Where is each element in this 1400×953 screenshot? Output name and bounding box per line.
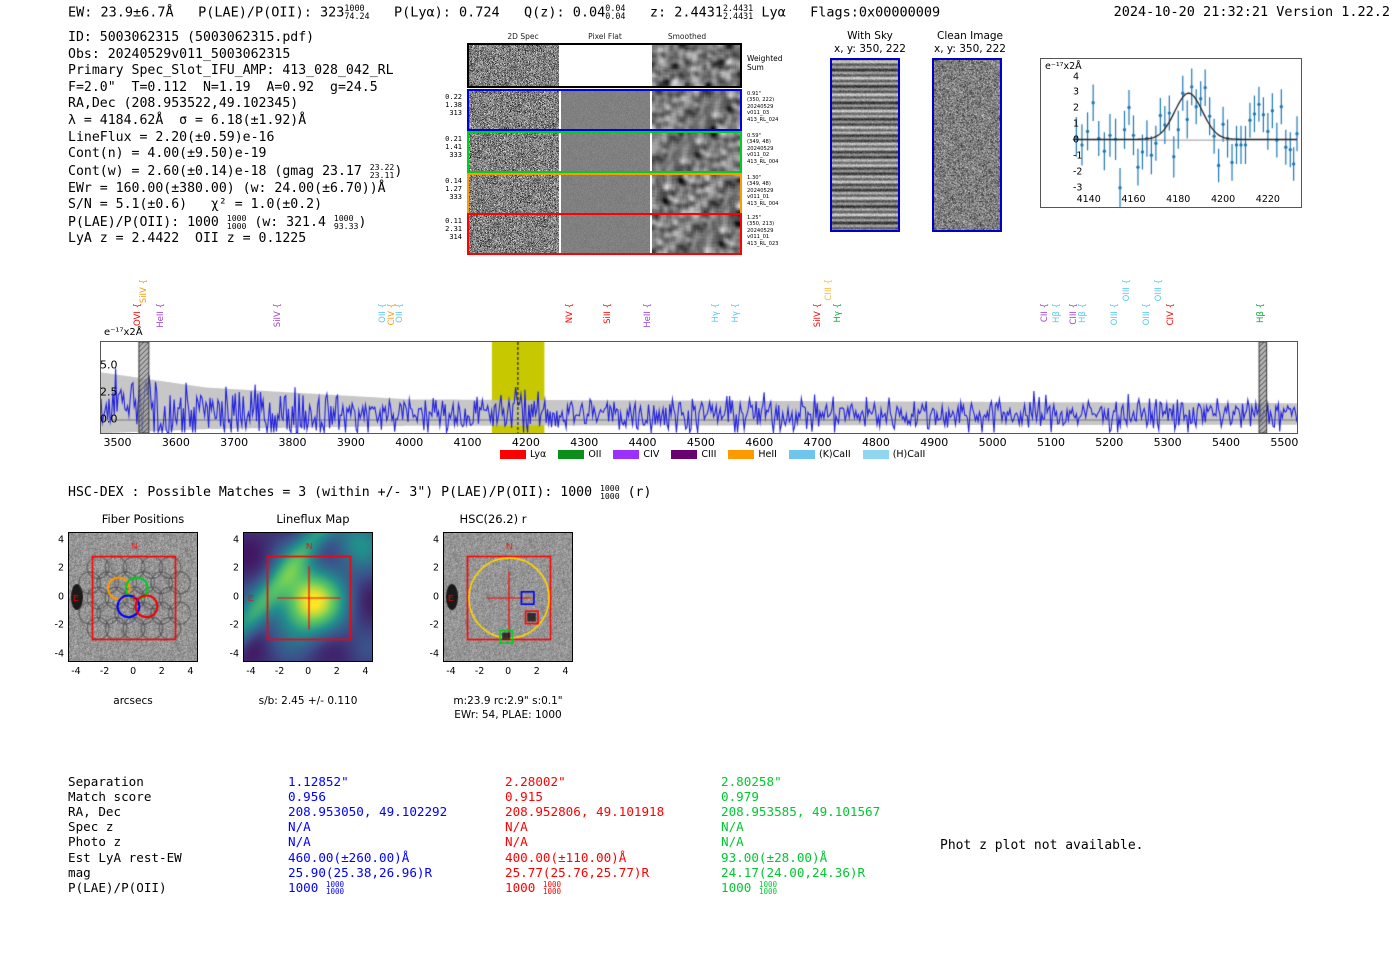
spectrum-x-tick: 3900 xyxy=(337,436,365,449)
fiber-pixel-flat xyxy=(561,215,650,253)
spectrum-x-tick: 3800 xyxy=(279,436,307,449)
legend-label: OII xyxy=(588,449,601,460)
info-radec: RA,Dec (208.953522,49.102345) xyxy=(68,96,402,113)
fiber-stats: 0.112.31314 xyxy=(418,217,462,242)
emission-line-label: Hγ { xyxy=(833,303,843,323)
emission-line-label: CII { xyxy=(1040,303,1050,322)
hsc-r-caption-2: EWr: 54, PLAE: 1000 xyxy=(413,709,603,721)
fiber-stats: 0.141.27333 xyxy=(418,177,462,202)
line-profile-x-tick: 4160 xyxy=(1121,194,1145,205)
spectrum-x-tick: 5300 xyxy=(1154,436,1182,449)
with-sky-title: With Sky x, y: 350, 222 xyxy=(820,30,920,55)
fiber-positions-image[interactable] xyxy=(68,532,198,662)
line-profile-x-tick: 4140 xyxy=(1077,194,1101,205)
legend-entry: OII xyxy=(558,449,601,460)
info-ewr: EWr = 160.00(±380.00) (w: 24.00(±6.70))Å xyxy=(68,181,402,198)
spectrum-x-tick: 5100 xyxy=(1037,436,1065,449)
emission-line-label: OIII { xyxy=(1142,303,1152,325)
fiber-2d-spec xyxy=(469,133,559,171)
spectrum-x-tick: 4000 xyxy=(395,436,423,449)
hsc-r-title: HSC(26.2) r xyxy=(408,512,578,526)
emission-line-label: Hγ { xyxy=(731,303,741,323)
info-primary-spec: Primary Spec_Slot_IFU_AMP: 413_028_042_R… xyxy=(68,63,402,80)
hsc-y-tick: -4 xyxy=(423,649,439,660)
header-z-type: Lyα xyxy=(761,4,785,20)
match-row-label: mag xyxy=(68,865,91,880)
emission-line-label: HeII { xyxy=(643,303,653,328)
fiber-pixel-flat xyxy=(561,133,650,171)
hsc-y-tick: -2 xyxy=(48,620,64,631)
match-cell: 208.953585, 49.101567 xyxy=(721,804,880,819)
emission-line-label: NV { xyxy=(565,303,575,323)
emission-line-label: SiIV { xyxy=(813,303,823,327)
hsc-x-tick: 0 xyxy=(505,666,511,677)
info-seeing: F=2.0" T=0.112 N=1.19 A=0.92 g=24.5 xyxy=(68,80,402,97)
match-cell: 1.12852" xyxy=(288,774,349,789)
legend-label: Lyα xyxy=(530,449,546,460)
lineflux-map-title: Lineflux Map xyxy=(228,512,398,526)
spectrum-x-tick: 4500 xyxy=(687,436,715,449)
col-header-smoothed: Smoothed xyxy=(647,32,727,41)
fiber-meta: 1.30" (349, 48) 20240529 v011_01 413_RL_… xyxy=(747,175,779,207)
emission-line-label: Hβ { xyxy=(1078,303,1088,323)
info-cont-w: Cont(w) = 2.60(±0.14)e-18 (gmag 23.17 23… xyxy=(68,163,402,181)
fiber-meta: 0.59" (349, 48) 20240529 v011_02 413_RL_… xyxy=(747,133,779,165)
legend-entry: CIII xyxy=(671,449,716,460)
match-row-label: Separation xyxy=(68,774,144,789)
clean-image xyxy=(932,58,1002,232)
fiber-smoothed xyxy=(652,133,740,171)
hsc-y-tick: 4 xyxy=(423,534,439,545)
emission-line-label: Hγ { xyxy=(711,303,721,323)
spectrum-axes xyxy=(100,341,1298,434)
legend-swatch xyxy=(558,450,584,459)
weighted-sum-row xyxy=(467,43,742,88)
legend-label: HeII xyxy=(758,449,777,460)
match-cell: 208.953050, 49.102292 xyxy=(288,804,447,819)
fiber-row[interactable] xyxy=(467,131,742,173)
hsc-x-tick: 2 xyxy=(534,666,540,677)
hsc-x-tick: 2 xyxy=(334,666,340,677)
legend-entry: HeII xyxy=(728,449,777,460)
match-cell: 1000 10001000 xyxy=(505,880,561,896)
lineflux-map-caption: s/b: 2.45 +/- 0.110 xyxy=(213,695,403,707)
line-profile-x-tick: 4200 xyxy=(1211,194,1235,205)
legend-label: CIV xyxy=(643,449,659,460)
spectrum-x-tick: 5400 xyxy=(1212,436,1240,449)
info-lambda-sigma: λ = 4184.62Å σ = 6.18(±1.92)Å xyxy=(68,113,402,130)
header-qz: Q(z): 0.04 xyxy=(524,4,605,20)
fiber-2d-spec xyxy=(469,91,559,129)
hsc-y-tick: -2 xyxy=(223,620,239,631)
spectrum-x-tick: 4400 xyxy=(629,436,657,449)
fiber-positions-title: Fiber Positions xyxy=(58,512,228,526)
match-cell: 0.956 xyxy=(288,789,326,804)
fiber-row[interactable] xyxy=(467,213,742,255)
match-cell: 25.77(25.76,25.77)R xyxy=(505,865,649,880)
hsc-x-tick: 0 xyxy=(305,666,311,677)
match-cell: N/A xyxy=(288,819,311,834)
match-cell: 2.80258" xyxy=(721,774,782,789)
spectrum-x-tick: 4900 xyxy=(920,436,948,449)
legend-label: CIII xyxy=(701,449,716,460)
emission-line-label: OIII { xyxy=(1110,303,1120,325)
match-row-label: Est LyA rest-EW xyxy=(68,850,182,865)
emission-line-label: OII { xyxy=(395,303,405,323)
legend-swatch xyxy=(863,450,889,459)
fiber-pixel-flat xyxy=(561,91,650,129)
clean-image-title: Clean Image x, y: 350, 222 xyxy=(915,30,1025,55)
spectrum-x-tick: 3700 xyxy=(220,436,248,449)
hsc-y-tick: -2 xyxy=(423,620,439,631)
hsc-y-tick: 2 xyxy=(423,563,439,574)
match-cell: 0.979 xyxy=(721,789,759,804)
match-cell: N/A xyxy=(505,834,528,849)
emission-line-label: CIII { xyxy=(824,279,834,301)
legend-entry: (H)CaII xyxy=(863,449,926,460)
hsc-y-tick: 0 xyxy=(48,591,64,602)
legend-swatch xyxy=(789,450,815,459)
col-header-2d-spec: 2D Spec xyxy=(483,32,563,41)
emission-line-label: Hβ { xyxy=(1256,303,1266,323)
match-cell: 24.17(24.00,24.36)R xyxy=(721,865,865,880)
hsc-y-tick: 0 xyxy=(423,591,439,602)
header-ew: EW: 23.9±6.7Å xyxy=(68,4,174,20)
match-cell: 25.90(25.38,26.96)R xyxy=(288,865,432,880)
spectrum-x-tick: 4300 xyxy=(570,436,598,449)
match-cell: 208.952806, 49.101918 xyxy=(505,804,664,819)
spectrum-canvas xyxy=(101,342,1297,433)
emission-line-label: SiIV { xyxy=(139,279,149,303)
hsc-x-tick: -4 xyxy=(446,666,455,677)
info-sn-chi2: S/N = 5.1(±0.6) χ² = 1.0(±0.2) xyxy=(68,197,402,214)
fiber-2d-spec xyxy=(469,175,559,213)
fiber-pixel-flat xyxy=(561,175,650,213)
header-plya: P(Lyα): 0.724 xyxy=(394,4,500,20)
legend-label: (H)CaII xyxy=(893,449,926,460)
emission-line-label: SiII { xyxy=(603,303,613,324)
match-cell: 93.00(±28.00)Å xyxy=(721,850,827,865)
fiber-row[interactable] xyxy=(467,89,742,131)
match-row-label: Match score xyxy=(68,789,151,804)
hsc-y-tick: 4 xyxy=(48,534,64,545)
match-row-label: Spec z xyxy=(68,819,114,834)
hsc-y-tick: 2 xyxy=(48,563,64,574)
source-info-block: ID: 5003062315 (5003062315.pdf) Obs: 202… xyxy=(68,30,402,248)
legend-swatch xyxy=(500,450,526,459)
spectrum-x-tick: 5200 xyxy=(1095,436,1123,449)
legend-label: (K)CaII xyxy=(819,449,851,460)
match-cell: N/A xyxy=(721,819,744,834)
fiber-stats: 0.211.41333 xyxy=(418,135,462,160)
header-plae-label: P(LAE)/P(OII): xyxy=(198,4,312,20)
emission-line-label: OIII { xyxy=(1122,279,1132,301)
hsc-y-tick: 2 xyxy=(223,563,239,574)
header-flags: Flags:0x00000009 xyxy=(810,4,940,20)
hsc-r-caption-1: m:23.9 rc:2.9" s:0.1" xyxy=(413,695,603,707)
with-sky-image xyxy=(830,58,900,232)
emission-line-label: SiIV { xyxy=(273,303,283,327)
legend-entry: (K)CaII xyxy=(789,449,851,460)
legend-swatch xyxy=(728,450,754,459)
fiber-smoothed xyxy=(652,91,740,129)
fiber-smoothed xyxy=(652,175,740,213)
spectrum-x-tick: 3600 xyxy=(162,436,190,449)
header-z-range: 2.44312.4431 xyxy=(723,4,753,20)
hsc-x-tick: 4 xyxy=(187,666,193,677)
header-z: z: 2.4431 xyxy=(650,4,723,20)
hsc-r-image[interactable] xyxy=(443,532,573,662)
spectrum-x-tick: 4600 xyxy=(745,436,773,449)
photz-note: Phot z plot not available. xyxy=(940,838,1144,853)
match-cell: 1000 10001000 xyxy=(288,880,344,896)
legend-swatch xyxy=(671,450,697,459)
spectrum-x-tick: 4100 xyxy=(454,436,482,449)
fiber-2d-spec xyxy=(469,215,559,253)
spectrum-legend: LyαOIICIVCIIIHeII(K)CaII(H)CaII xyxy=(500,449,925,460)
fiber-meta: 0.91" (350, 222) 20240529 v011_03 413_RL… xyxy=(747,91,779,123)
spectrum-x-tick: 4800 xyxy=(862,436,890,449)
header-qz-range: 0.040.04 xyxy=(605,4,625,20)
hsc-x-tick: 4 xyxy=(562,666,568,677)
col-header-pixel-flat: Pixel Flat xyxy=(565,32,645,41)
spectrum-x-tick: 3500 xyxy=(104,436,132,449)
emission-line-label: HeII { xyxy=(156,303,166,328)
info-obs: Obs: 20240529v011_5003062315 xyxy=(68,47,402,64)
hsc-x-tick: -2 xyxy=(275,666,284,677)
line-profile-x-tick: 4180 xyxy=(1166,194,1190,205)
spectrum-x-tick: 5000 xyxy=(979,436,1007,449)
hsc-x-tick: 4 xyxy=(362,666,368,677)
hsc-x-tick: -4 xyxy=(71,666,80,677)
spectrum-x-tick: 5500 xyxy=(1270,436,1298,449)
spectrum-x-tick: 4200 xyxy=(512,436,540,449)
spectrum-x-tick: 4700 xyxy=(804,436,832,449)
match-cell: 2.28002" xyxy=(505,774,566,789)
hsc-y-tick: 0 xyxy=(223,591,239,602)
emission-line-label: OIII { xyxy=(1154,279,1164,301)
hsc-y-tick: 4 xyxy=(223,534,239,545)
header-plae-value: 323 xyxy=(320,4,344,20)
fiber-positions-caption: arcsecs xyxy=(38,695,228,707)
emission-line-label: OVI { xyxy=(133,303,143,326)
weighted-sum-label: Weighted Sum xyxy=(747,54,783,72)
match-row-label: RA, Dec xyxy=(68,804,121,819)
match-row-label: P(LAE)/P(OII) xyxy=(68,880,167,895)
match-cell: 0.915 xyxy=(505,789,543,804)
line-profile-x-tick: 4220 xyxy=(1256,194,1280,205)
emission-line-label: Hβ { xyxy=(1052,303,1062,323)
timestamp-version: 2024-10-20 21:32:21 Version 1.22.2 xyxy=(1114,4,1390,20)
hsc-y-tick: -4 xyxy=(223,649,239,660)
match-cell: N/A xyxy=(505,819,528,834)
legend-swatch xyxy=(613,450,639,459)
lineflux-map-image[interactable] xyxy=(243,532,373,662)
info-plae: P(LAE)/P(OII): 1000 10001000 (w: 321.4 1… xyxy=(68,214,402,232)
legend-entry: CIV xyxy=(613,449,659,460)
match-row-label: Photo z xyxy=(68,834,121,849)
hsc-x-tick: -4 xyxy=(246,666,255,677)
info-redshifts: LyA z = 2.4422 OII z = 0.1225 xyxy=(68,231,402,248)
match-cell: N/A xyxy=(288,834,311,849)
info-cont-n: Cont(n) = 4.00(±9.50)e-19 xyxy=(68,146,402,163)
full-spectrum-plot: e⁻¹⁷x2Å 0.02.55.035003600370038003900400… xyxy=(100,341,1298,434)
spectrum-unit-label: e⁻¹⁷x2Å xyxy=(104,327,143,338)
fiber-meta: 1.25" (350, 213) 20240529 v011_01 413_RL… xyxy=(747,215,779,247)
header-plae-range: 100074.24 xyxy=(344,4,369,20)
fiber-stats: 0.221.38313 xyxy=(418,93,462,118)
info-lineflux: LineFlux = 2.20(±0.59)e-16 xyxy=(68,130,402,147)
pixel-flat-blank xyxy=(561,45,650,86)
hsc-x-tick: 2 xyxy=(159,666,165,677)
match-cell: 1000 10001000 xyxy=(721,880,777,896)
match-cell: N/A xyxy=(721,834,744,849)
hsc-dex-heading: HSC-DEX : Possible Matches = 3 (within +… xyxy=(68,484,651,500)
info-id: ID: 5003062315 (5003062315.pdf) xyxy=(68,30,402,47)
hsc-x-tick: -2 xyxy=(100,666,109,677)
hsc-x-tick: 0 xyxy=(130,666,136,677)
match-cell: 460.00(±260.00)Å xyxy=(288,850,409,865)
line-profile-plot: e⁻¹⁷x2Å -3-2-10123441404160418042004220 xyxy=(1040,58,1302,208)
fiber-row[interactable] xyxy=(467,173,742,215)
hsc-y-tick: -4 xyxy=(48,649,64,660)
fiber-smoothed xyxy=(652,215,740,253)
legend-entry: Lyα xyxy=(500,449,546,460)
emission-line-label: CIV { xyxy=(1166,303,1176,325)
header-summary-line: EW: 23.9±6.7Å P(LAE)/P(OII): 323100074.2… xyxy=(68,4,940,20)
match-cell: 400.00(±110.00)Å xyxy=(505,850,626,865)
hsc-x-tick: -2 xyxy=(475,666,484,677)
